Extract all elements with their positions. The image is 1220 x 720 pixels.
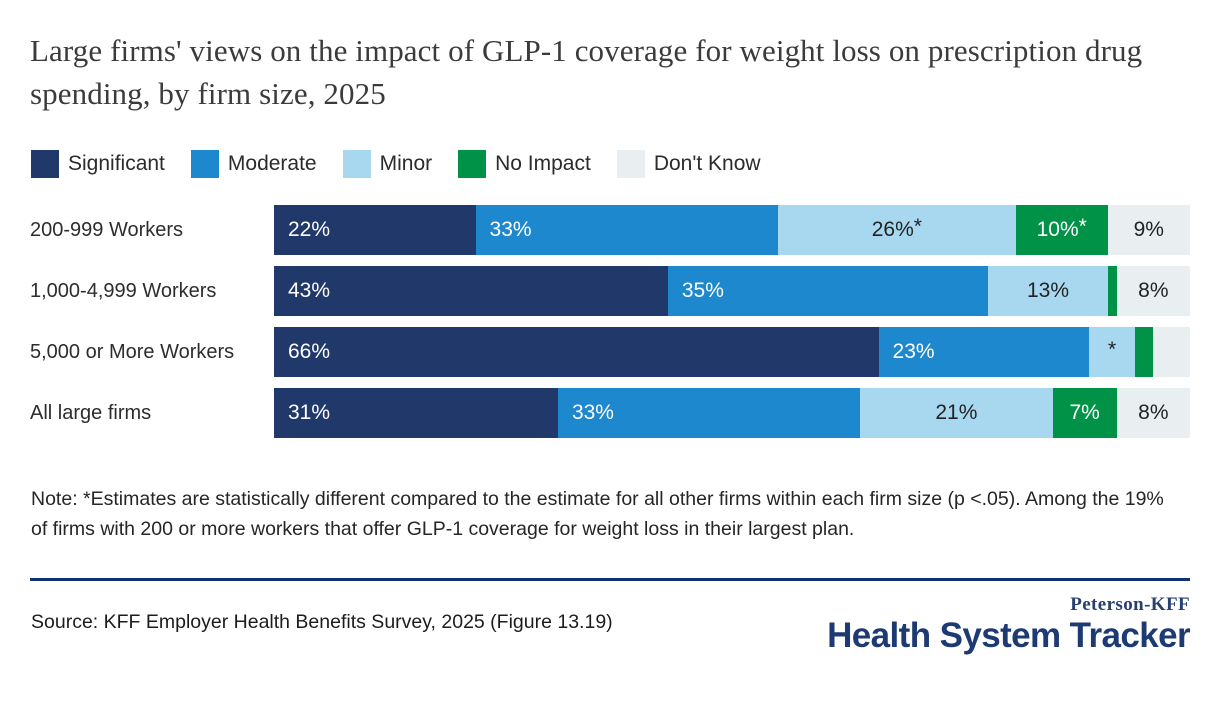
bar-segment-value: 35% — [668, 279, 724, 303]
significance-asterisk: * — [914, 215, 922, 238]
bar-segment-value: 33% — [476, 218, 532, 242]
legend-item-significant[interactable]: Significant — [31, 150, 165, 178]
row-category-label: All large firms — [30, 402, 274, 425]
bar-segment-value: 66% — [274, 340, 330, 364]
bar-segment-value: 43% — [274, 279, 330, 303]
significance-asterisk: * — [1079, 215, 1087, 238]
bar-segment-don-t-know[interactable]: 8% — [1117, 388, 1190, 438]
footer-divider — [30, 578, 1190, 581]
peterson-kff-logo: Peterson-KFF Health System Tracker — [827, 595, 1190, 655]
stacked-bar: 22%33%26%*10%*9% — [274, 205, 1190, 255]
legend-item-label: Don't Know — [654, 152, 761, 176]
bar-segment-significant[interactable]: 66% — [274, 327, 879, 377]
bar-segment-value: 7% — [1053, 401, 1117, 425]
bar-segment-value: 10%* — [1016, 218, 1108, 242]
bar-segment-minor[interactable]: 21% — [860, 388, 1052, 438]
bar-segment-no-impact[interactable]: 10%* — [1016, 205, 1108, 255]
logo-top-text: Peterson-KFF — [827, 595, 1190, 616]
row-category-label: 200-999 Workers — [30, 219, 274, 242]
bar-segment-don-t-know[interactable]: 9% — [1108, 205, 1190, 255]
legend-item-label: No Impact — [495, 152, 591, 176]
bar-segment-value: 22% — [274, 218, 330, 242]
bar-segment-value: 33% — [558, 401, 614, 425]
legend-item-label: Significant — [68, 152, 165, 176]
bar-segment-value: 13% — [988, 279, 1107, 303]
bar-segment-value: 23% — [879, 340, 935, 364]
bar-segment-significant[interactable]: 43% — [274, 266, 668, 316]
chart-note: Note: *Estimates are statistically diffe… — [31, 485, 1176, 544]
logo-bottom-text: Health System Tracker — [827, 618, 1190, 655]
legend-swatch-icon — [343, 150, 371, 178]
stacked-bar: 43%35%13%8% — [274, 266, 1190, 316]
bar-segment-don-t-know[interactable]: 8% — [1117, 266, 1190, 316]
bar-segment-significant[interactable]: 31% — [274, 388, 558, 438]
chart-row: All large firms31%33%21%7%8% — [30, 388, 1190, 438]
bar-segment-significant[interactable]: 22% — [274, 205, 476, 255]
row-category-label: 1,000-4,999 Workers — [30, 280, 274, 303]
legend-item-moderate[interactable]: Moderate — [191, 150, 317, 178]
bar-segment-moderate[interactable]: 33% — [558, 388, 860, 438]
chart-row: 200-999 Workers22%33%26%*10%*9% — [30, 205, 1190, 255]
bar-segment-no-impact[interactable]: 7% — [1053, 388, 1117, 438]
bar-segment-moderate[interactable]: 33% — [476, 205, 778, 255]
legend-swatch-icon — [458, 150, 486, 178]
chart-page: Large firms' views on the impact of GLP-… — [0, 0, 1220, 720]
bar-segment-minor[interactable]: 26%* — [778, 205, 1016, 255]
row-category-label: 5,000 or More Workers — [30, 341, 274, 364]
legend-item-no-impact[interactable]: No Impact — [458, 150, 591, 178]
stacked-bar: 66%23%* — [274, 327, 1190, 377]
bar-segment-value: * — [1089, 339, 1135, 365]
page-title: Large firms' views on the impact of GLP-… — [30, 30, 1180, 116]
legend-item-don-t-know[interactable]: Don't Know — [617, 150, 761, 178]
bar-segment-minor[interactable]: 13% — [988, 266, 1107, 316]
bar-segment-value: 21% — [860, 401, 1052, 425]
bar-segment-value: 9% — [1108, 218, 1190, 242]
chart-row: 5,000 or More Workers66%23%* — [30, 327, 1190, 377]
significance-asterisk: * — [1108, 338, 1116, 361]
legend-item-label: Minor — [380, 152, 433, 176]
legend-item-label: Moderate — [228, 152, 317, 176]
chart-legend: SignificantModerateMinorNo ImpactDon't K… — [31, 150, 787, 178]
legend-swatch-icon — [191, 150, 219, 178]
legend-item-minor[interactable]: Minor — [343, 150, 433, 178]
bar-segment-no-impact[interactable] — [1108, 266, 1117, 316]
bar-segment-moderate[interactable]: 35% — [668, 266, 989, 316]
bar-segment-value: 8% — [1117, 401, 1190, 425]
bar-segment-don-t-know[interactable] — [1153, 327, 1190, 377]
chart-row: 1,000-4,999 Workers43%35%13%8% — [30, 266, 1190, 316]
stacked-bar: 31%33%21%7%8% — [274, 388, 1190, 438]
bar-segment-value: 26%* — [778, 218, 1016, 242]
bar-segment-no-impact[interactable] — [1135, 327, 1153, 377]
stacked-bar-chart: 200-999 Workers22%33%26%*10%*9%1,000-4,9… — [30, 205, 1190, 449]
legend-swatch-icon — [31, 150, 59, 178]
bar-segment-value: 8% — [1117, 279, 1190, 303]
bar-segment-moderate[interactable]: 23% — [879, 327, 1090, 377]
chart-source: Source: KFF Employer Health Benefits Sur… — [31, 608, 671, 637]
legend-swatch-icon — [617, 150, 645, 178]
bar-segment-value: 31% — [274, 401, 330, 425]
bar-segment-minor[interactable]: * — [1089, 327, 1135, 377]
